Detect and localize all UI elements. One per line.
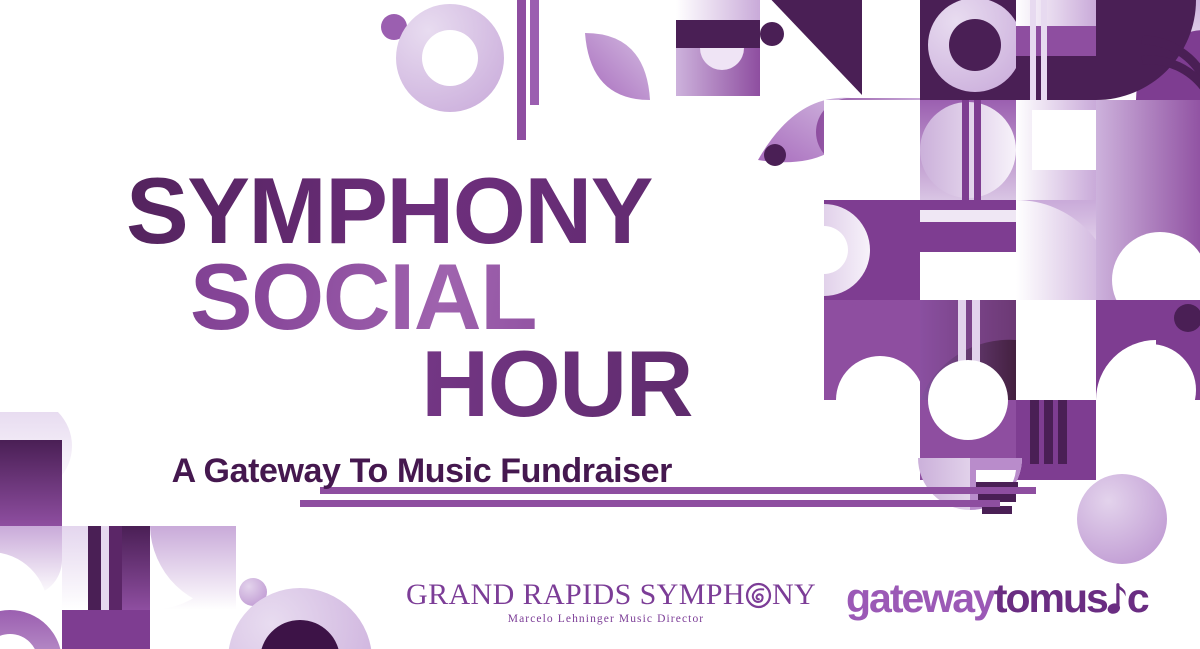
gateway-to-music-logo: gatewaytomusc — [846, 578, 1148, 619]
grand-rapids-symphony-logo: GRAND RAPIDS SYMPHNY Marcelo Lehninger M… — [406, 580, 806, 625]
deco-col-pale — [62, 526, 90, 610]
deco-rect-bottom — [62, 610, 150, 649]
deco-bar-short — [530, 0, 539, 105]
deco-bar-tall — [517, 0, 526, 140]
deco-col-light — [101, 526, 109, 610]
symphony-logo-tagline: Marcelo Lehninger Music Director — [406, 613, 806, 625]
subtitle-rule-lower — [300, 500, 1000, 507]
decorative-pattern-layer — [0, 0, 1200, 649]
symphony-social-hour-poster: SYMPHONY SOCIAL HOUR A Gateway To Music … — [0, 0, 1200, 649]
deco-dot-small — [760, 22, 784, 46]
eighth-note-icon — [1107, 582, 1127, 618]
deco-ball-right — [1077, 474, 1167, 564]
deco-block-pale — [676, 0, 760, 20]
deco-rect-purple — [0, 440, 62, 526]
gateway-wordmark-tomus: tomus — [994, 575, 1107, 621]
symphony-wordmark-part1: GRAND RAPIDS SYMPH — [406, 578, 745, 611]
bottom-left-pattern — [0, 398, 372, 649]
deco-block-dark — [676, 20, 760, 48]
deco-col-dark2 — [109, 526, 122, 610]
deco-triangle — [762, 0, 862, 95]
symphony-wordmark-part2: NY — [772, 578, 816, 611]
symphony-swirl-icon — [745, 582, 772, 609]
deco-ring-large — [396, 4, 504, 112]
deco-leaf-top — [585, 33, 650, 100]
deco-col-dark1 — [88, 526, 101, 610]
deco-col-mid — [122, 526, 150, 610]
gateway-wordmark-gateway: gateway — [846, 575, 994, 621]
deco-leaf-dot — [764, 144, 786, 166]
subtitle-rule-upper — [320, 487, 1036, 494]
symphony-logo-wordmark: GRAND RAPIDS SYMPHNY — [406, 580, 806, 610]
gateway-wordmark-c: c — [1127, 575, 1148, 621]
